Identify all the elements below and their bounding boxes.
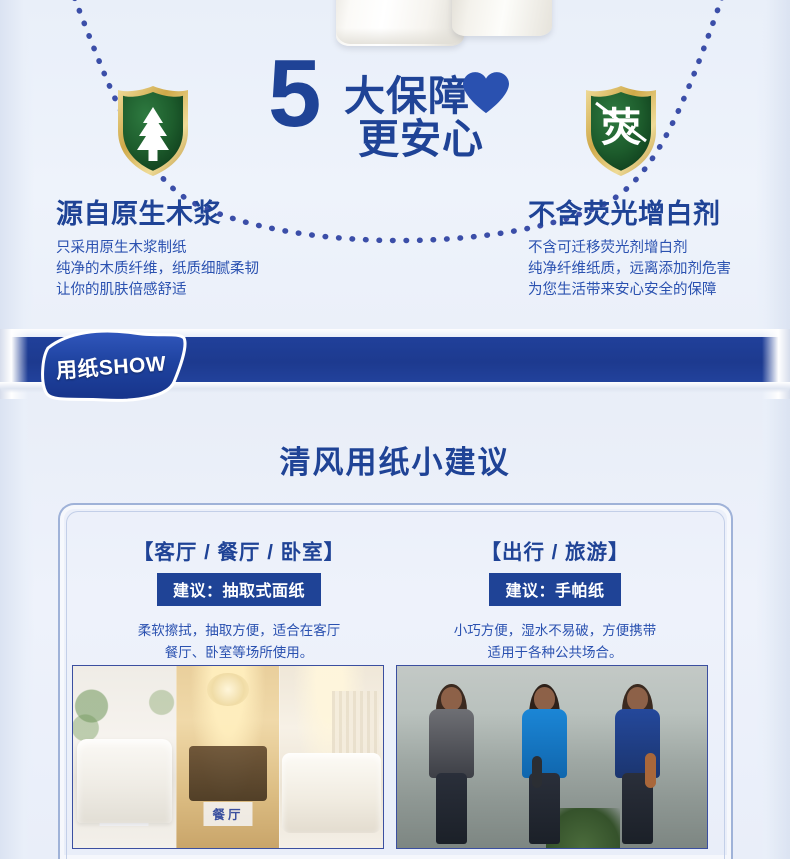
figure-head xyxy=(441,687,462,710)
feature-title: 不含荧光增白剂 xyxy=(528,192,790,231)
headline-number: 5 xyxy=(268,46,319,142)
figure-head xyxy=(627,687,648,710)
recommendation-advice-badge: 建议：手帕纸 xyxy=(489,573,620,606)
feature-line: 只采用原生木浆制纸 xyxy=(56,238,386,259)
paper-roll-secondary xyxy=(452,0,552,36)
feature-line: 不含可迁移荧光剂增白剂 xyxy=(528,238,790,259)
photo-caption: 餐厅 xyxy=(203,802,252,826)
heart-icon xyxy=(463,70,509,116)
feature-no-fluorescent: 不含荧光增白剂 不含可迁移荧光剂增白剂 纯净纤维纸质，远离添加剂危害 为您生活带… xyxy=(528,192,790,301)
description-line: 餐厅、卧室等场所使用。 xyxy=(74,642,404,664)
paper-show-tag: 用纸SHOW xyxy=(38,330,188,402)
description-line: 小巧方便，湿水不易破，方便携带 xyxy=(390,620,720,642)
headline-block: 5 大保障 更安心 xyxy=(268,52,538,164)
feature-line: 纯净纤维纸质，远离添加剂危害 xyxy=(528,259,790,280)
feature-natural-pulp: 源自原生木浆 只采用原生木浆制纸 纯净的木质纤维，纸质细腻柔韧 让你的肌肤倍感舒… xyxy=(56,192,386,301)
recommendation-description: 柔软擦拭，抽取方便，适合在客厅 餐厅、卧室等场所使用。 xyxy=(74,620,404,664)
shield-badge-no-fluorescent: 荧 xyxy=(580,83,662,179)
bedroom-photo: 卧室 xyxy=(279,666,383,848)
description-line: 柔软擦拭，抽取方便，适合在客厅 xyxy=(74,620,404,642)
shield-outline: 荧 xyxy=(580,83,662,179)
paper-roll-primary xyxy=(336,0,464,46)
ribbon-curl-right xyxy=(762,329,790,399)
recommendation-column-home: 【客厅 / 餐厅 / 卧室】 建议：抽取式面纸 柔软擦拭，抽取方便，适合在客厅 … xyxy=(74,535,404,664)
photo-caption: 卧室 xyxy=(307,802,356,826)
feature-line: 纯净的木质纤维，纸质细腻柔韧 xyxy=(56,259,386,280)
photo-strip-travel xyxy=(396,665,708,849)
feature-line: 为您生活带来安心安全的保障 xyxy=(528,280,790,301)
shield-badge-natural-pulp xyxy=(112,83,194,179)
photo-strip-home: 客厅 餐厅 卧室 xyxy=(72,665,384,849)
handbag-icon xyxy=(532,756,542,787)
figure-torso xyxy=(522,709,567,778)
ribbon-curl-left xyxy=(0,329,28,399)
pedestrian-figure xyxy=(608,684,667,841)
toilet-paper-rolls-image xyxy=(300,0,560,54)
product-detail-page: 5 大保障 更安心 xyxy=(0,0,790,859)
recommendation-category-title: 【客厅 / 餐厅 / 卧室】 xyxy=(74,535,404,565)
recommendation-category-title: 【出行 / 旅游】 xyxy=(390,535,720,565)
street-walking-photo xyxy=(397,666,707,848)
feature-line: 让你的肌肤倍感舒适 xyxy=(56,280,386,301)
feature-title: 源自原生木浆 xyxy=(56,192,386,231)
paper-show-tag-label: 用纸SHOW xyxy=(36,325,191,407)
shield-outline xyxy=(112,83,194,179)
photo-caption: 客厅 xyxy=(100,802,149,826)
recommendation-advice-badge: 建议：抽取式面纸 xyxy=(157,573,321,606)
dining-room-photo: 餐厅 xyxy=(176,666,280,848)
figure-legs xyxy=(436,773,467,843)
recommendation-column-travel: 【出行 / 旅游】 建议：手帕纸 小巧方便，湿水不易破，方便携带 适用于各种公共… xyxy=(390,535,720,664)
figure-head xyxy=(534,687,555,710)
living-room-photo: 客厅 xyxy=(73,666,176,848)
pedestrian-figure xyxy=(515,684,574,841)
pedestrian-figure xyxy=(422,684,481,841)
handbag-icon xyxy=(645,753,656,787)
recommendations-panel: 【客厅 / 餐厅 / 卧室】 建议：抽取式面纸 柔软擦拭，抽取方便，适合在客厅 … xyxy=(58,503,733,859)
recommendation-description: 小巧方便，湿水不易破，方便携带 适用于各种公共场合。 xyxy=(390,620,720,664)
figure-torso xyxy=(429,709,474,778)
description-line: 适用于各种公共场合。 xyxy=(390,642,720,664)
section-title: 清风用纸小建议 xyxy=(0,437,790,482)
page-right-shadow xyxy=(756,0,790,859)
page-left-shadow xyxy=(0,0,34,859)
